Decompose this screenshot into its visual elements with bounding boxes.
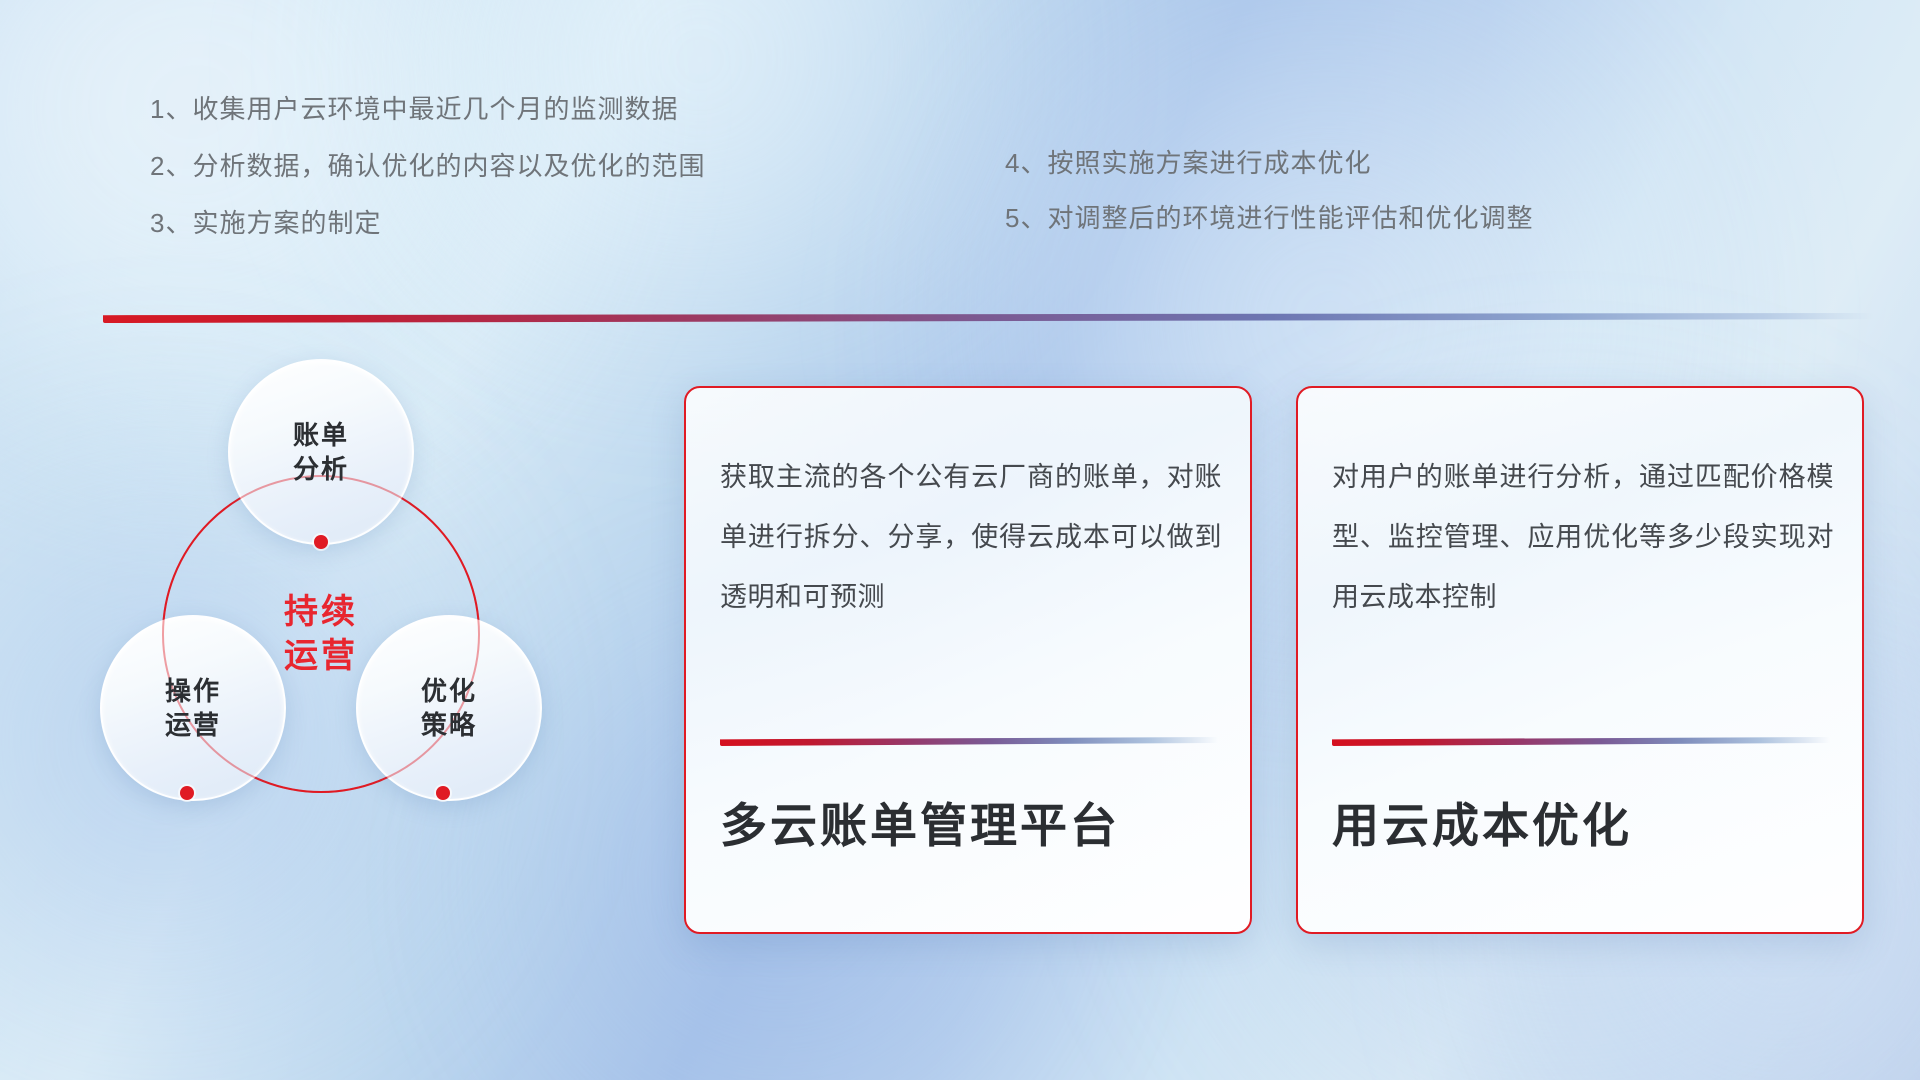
card-title: 用云成本优化 [1332,800,1632,852]
card-title: 多云账单管理平台 [720,800,1120,852]
card-divider-rule [1332,737,1830,746]
circles-diagram: 账单 分析 操作 运营 优化 策略 持续 运营 [100,345,540,765]
steps-right-column: 4、按照实施方案进行成本优化 5、对调整后的环境进行性能评估和优化调整 [1005,150,1533,260]
connector-dot-top [314,535,328,549]
card-body-text: 对用户的账单进行分析，通过匹配价格模型、监控管理、应用优化等多少段实现对用云成本… [1332,448,1834,628]
card-divider-bar [1332,737,1830,746]
card-body-text: 获取主流的各个公有云厂商的账单，对账单进行拆分、分享，使得云成本可以做到透明和可… [720,448,1222,628]
step-item-3: 3、实施方案的制定 [150,210,705,236]
card-divider-bar [720,737,1218,746]
steps-left-column: 1、收集用户云环境中最近几个月的监测数据 2、分析数据，确认优化的内容以及优化的… [150,96,705,267]
section-divider-rule [103,313,1873,323]
card-cloud-cost-optimization[interactable]: 对用户的账单进行分析，通过匹配价格模型、监控管理、应用优化等多少段实现对用云成本… [1296,386,1864,934]
card-divider-rule [720,737,1218,746]
connector-dot-bottom-right [436,786,450,800]
slide-canvas: 1、收集用户云环境中最近几个月的监测数据 2、分析数据，确认优化的内容以及优化的… [0,0,1920,1080]
card-multicloud-billing-platform[interactable]: 获取主流的各个公有云厂商的账单，对账单进行拆分、分享，使得云成本可以做到透明和可… [684,386,1252,934]
diagram-center-label: 持续 运营 [162,475,480,793]
connector-dot-bottom-left [180,786,194,800]
step-item-5: 5、对调整后的环境进行性能评估和优化调整 [1005,205,1533,231]
node-label-line1: 账单 [293,420,349,450]
center-label-line1: 持续 [284,593,358,631]
step-item-2: 2、分析数据，确认优化的内容以及优化的范围 [150,153,705,179]
center-label-line2: 运营 [284,637,358,675]
divider-bar [103,313,1873,323]
step-item-1: 1、收集用户云环境中最近几个月的监测数据 [150,96,705,122]
step-item-4: 4、按照实施方案进行成本优化 [1005,150,1533,176]
